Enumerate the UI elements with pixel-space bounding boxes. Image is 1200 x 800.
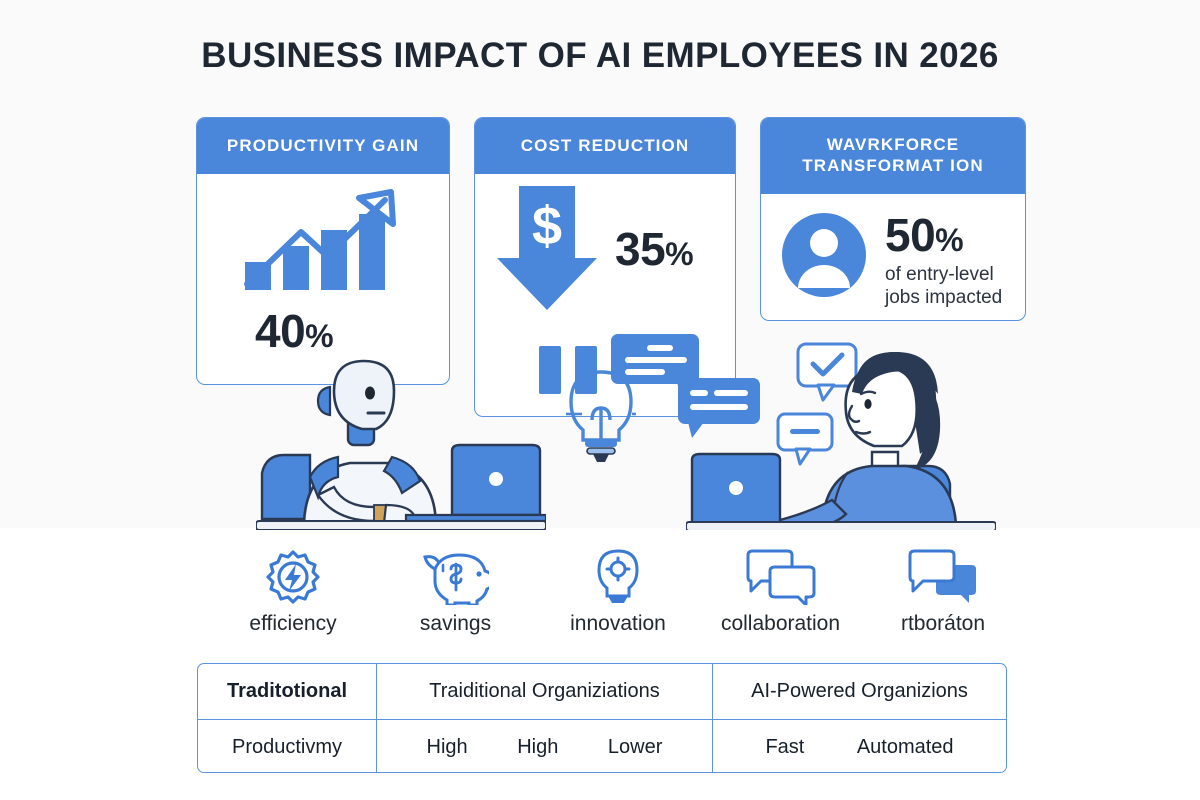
card-workforce-transformation[interactable]: WAVRKFORCE TRANSFORMAT ION 50% of entry-… bbox=[760, 117, 1026, 321]
icon-strip: efficiency savings innovation bbox=[218, 548, 1018, 648]
icon-label-savings: savings bbox=[420, 612, 491, 636]
page-title: BUSINESS IMPACT OF AI EMPLOYEES IN 2026 bbox=[0, 36, 1200, 76]
user-avatar-icon bbox=[781, 212, 867, 303]
speech-bubbles-filled-icon bbox=[906, 548, 980, 606]
icon-cell-collaboration[interactable]: collaboration bbox=[706, 548, 856, 636]
table-row-traditional-values: High High Lower bbox=[376, 720, 712, 773]
table-row: Productivmy High High Lower Fast Automat… bbox=[198, 719, 1006, 773]
lightbulb-icon bbox=[566, 368, 636, 469]
robot-at-laptop-illustration bbox=[256, 355, 546, 535]
icon-cell-rtboraton[interactable]: rtboráton bbox=[868, 548, 1018, 636]
svg-text:$: $ bbox=[532, 196, 562, 256]
card-workforce-percent: % bbox=[935, 222, 963, 258]
icon-cell-innovation[interactable]: innovation bbox=[543, 548, 693, 636]
illustration-scene bbox=[0, 330, 1200, 530]
bar-chart-growth-arrow-icon bbox=[235, 180, 415, 305]
card-cost-number: 35 bbox=[615, 223, 665, 275]
traditional-value: High bbox=[427, 736, 468, 759]
icon-label-collaboration: collaboration bbox=[721, 612, 840, 636]
traditional-value: Lower bbox=[608, 736, 662, 759]
icon-label-efficiency: efficiency bbox=[249, 612, 336, 636]
card-productivity-header: PRODUCTIVITY GAIN bbox=[197, 118, 449, 174]
card-workforce-subtitle-line1: of entry-level bbox=[885, 263, 1002, 286]
comparison-table: Traditotional Traiditional Organiziation… bbox=[197, 663, 1007, 773]
speech-bubbles-icon bbox=[744, 548, 818, 606]
gear-bolt-icon bbox=[265, 548, 321, 606]
icon-label-innovation: innovation bbox=[570, 612, 666, 636]
card-cost-header: COST REDUCTION bbox=[475, 118, 735, 174]
ai-value: Automated bbox=[857, 736, 954, 759]
card-workforce-header: WAVRKFORCE TRANSFORMAT ION bbox=[761, 118, 1025, 194]
table-header-cell-1: Traditotional bbox=[198, 664, 376, 719]
cost-value-row: $ 35% bbox=[493, 182, 693, 319]
card-workforce-number: 50 bbox=[885, 209, 935, 261]
table-header-cell-2: Traiditional Organiziations bbox=[376, 664, 712, 719]
table-row-label: Productivmy bbox=[198, 720, 376, 773]
ai-values-group: Fast Automated bbox=[713, 736, 1006, 759]
icon-cell-savings[interactable]: savings bbox=[381, 548, 531, 636]
card-cost-value: 35% bbox=[615, 222, 693, 276]
ai-value: Fast bbox=[765, 736, 804, 759]
table-row-ai-values: Fast Automated bbox=[712, 720, 1006, 773]
table-header-cell-3: AI-Powered Organizions bbox=[712, 664, 1006, 719]
lightbulb-idea-icon bbox=[594, 548, 642, 606]
card-workforce-subtitle-line2: jobs impacted bbox=[885, 286, 1002, 309]
card-cost-percent: % bbox=[665, 236, 693, 272]
traditional-value: High bbox=[517, 736, 558, 759]
piggy-bank-icon bbox=[423, 548, 489, 606]
table-header-row: Traditotional Traiditional Organiziation… bbox=[198, 664, 1006, 719]
traditional-values-group: High High Lower bbox=[377, 736, 712, 759]
icon-label-rtboraton: rtboráton bbox=[901, 612, 985, 636]
workforce-text-block: 50% of entry-level jobs impacted bbox=[885, 206, 1002, 309]
icon-cell-efficiency[interactable]: efficiency bbox=[218, 548, 368, 636]
dollar-down-arrow-icon: $ bbox=[493, 182, 601, 319]
card-workforce-value: 50% bbox=[885, 208, 1002, 262]
woman-at-laptop-illustration bbox=[686, 340, 996, 535]
workforce-value-row: 50% of entry-level jobs impacted bbox=[781, 206, 1002, 309]
